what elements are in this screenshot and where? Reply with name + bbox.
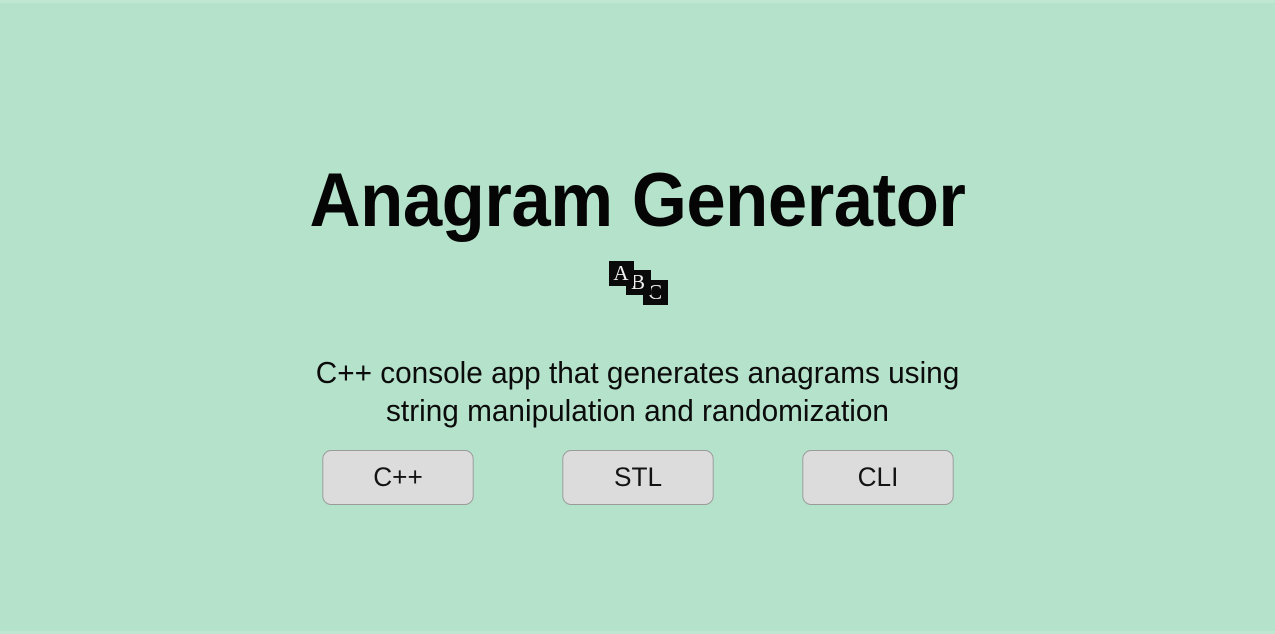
page-subtitle-line-2: string manipulation and randomization: [26, 392, 1250, 430]
page-subtitle-line-1: C++ console app that generates anagrams …: [26, 354, 1250, 392]
page-title: Anagram Generator: [45, 163, 1231, 239]
tag-pill-cli[interactable]: CLI: [802, 450, 953, 505]
tag-pill-stl[interactable]: STL: [562, 450, 713, 505]
page-subtitle: C++ console app that generates anagrams …: [26, 354, 1250, 430]
abc-tile-a: A: [609, 261, 634, 286]
tag-pill-cpp[interactable]: C++: [322, 450, 473, 505]
hero-content-stack: Anagram Generator A B C C++ console app …: [0, 0, 1275, 634]
abc-letter-tiles-icon: A B C: [609, 261, 671, 309]
hero-canvas: Anagram Generator A B C C++ console app …: [0, 0, 1275, 634]
tag-list: C++ STL CLI: [0, 450, 1275, 505]
